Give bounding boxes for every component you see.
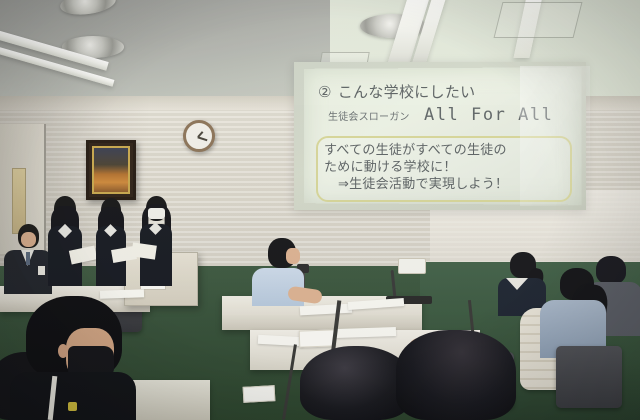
- id-badge: [38, 266, 45, 275]
- student-presenting: [48, 196, 82, 286]
- framed-painting: [86, 140, 136, 200]
- av-device[interactable]: [398, 258, 426, 274]
- face-mask: [148, 208, 165, 219]
- ceiling-access-panel: [494, 2, 583, 38]
- foreground-audience: [396, 330, 526, 420]
- slide-number-marker: ②: [318, 84, 332, 102]
- student-presenting: [96, 198, 126, 286]
- slide-heading: ②こんな学校にしたい: [318, 84, 568, 102]
- uniform-button: [68, 402, 77, 411]
- slide-callout-line-1: すべての生徒がすべての生徒の: [324, 142, 564, 158]
- name-card: [299, 329, 336, 347]
- teacher-seated: [4, 224, 52, 292]
- meeting-room-photo: ②こんな学校にしたい 生徒会スローガン All For All すべての生徒がす…: [0, 0, 640, 420]
- slide-callout-line-2: ために動ける学校に！: [324, 159, 564, 175]
- necktie: [26, 252, 30, 265]
- stacking-chair[interactable]: [556, 346, 622, 408]
- wall-clock-icon: [183, 120, 215, 152]
- painting-canvas: [94, 148, 128, 192]
- clock-minute-hand: [198, 136, 208, 141]
- foreground-audience: [10, 296, 140, 420]
- person-face: [21, 232, 36, 247]
- person-hair: [396, 330, 516, 420]
- person-body: [10, 372, 136, 420]
- slide-callout-line-3: ⇒生徒会活動で実現しよう！: [338, 176, 568, 192]
- slide-slogan: All For All: [424, 105, 553, 125]
- slide-heading-text: こんな学校にしたい: [338, 84, 476, 101]
- student-presenting: [140, 196, 172, 286]
- name-card: [243, 385, 276, 403]
- seated-audience: [540, 268, 616, 358]
- person-ear: [58, 344, 68, 358]
- student-at-desk: [252, 238, 310, 304]
- person-face: [286, 248, 300, 264]
